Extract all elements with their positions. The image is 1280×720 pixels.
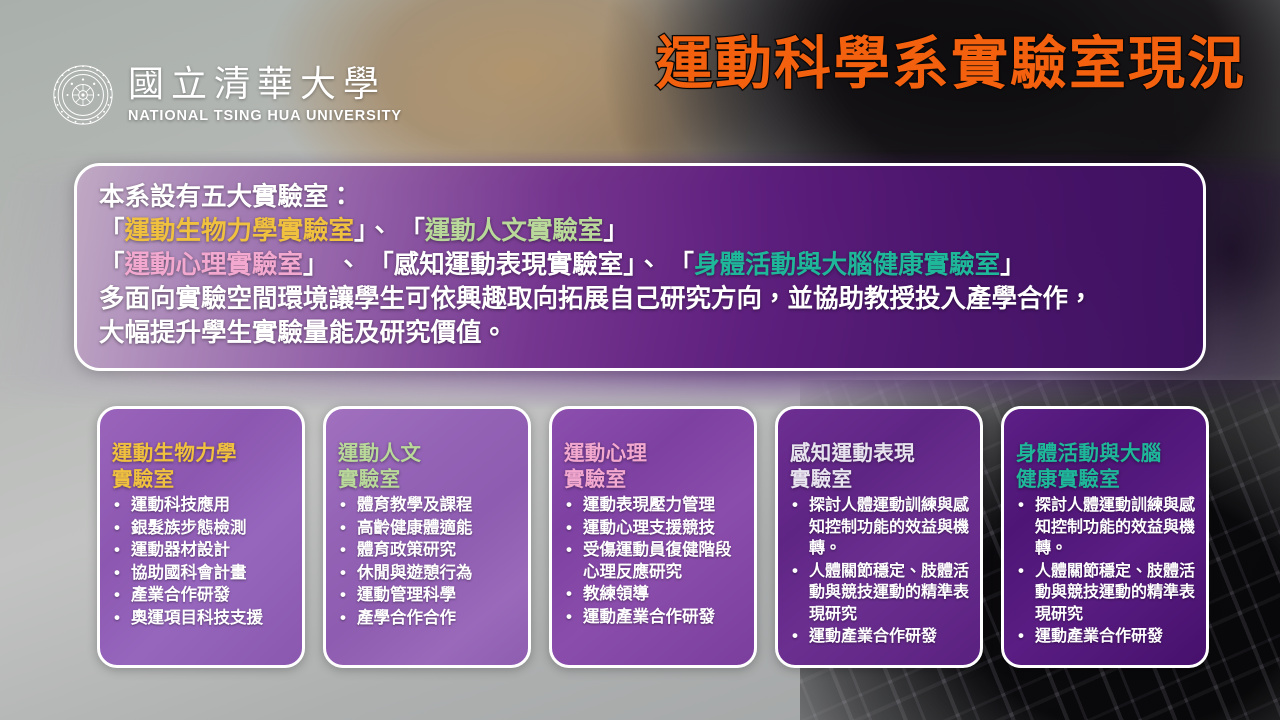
lab-card-item: 高齡健康體適能: [338, 518, 519, 540]
lab-card-item: 教練領導: [564, 584, 745, 606]
lab-card-item: 體育教學及課程: [338, 495, 519, 517]
lab-card-title: 運動心理 實驗室: [564, 441, 745, 493]
intro-banner-segment: 運動心理實驗室: [125, 251, 304, 279]
lab-card-item-list: 運動表現壓力管理運動心理支援競技受傷運動員復健階段心理反應研究教練領導運動產業合…: [564, 495, 745, 628]
lab-card-item: 運動表現壓力管理: [564, 495, 745, 517]
university-logo: 國立清華大學 NATIONAL TSING HUA UNIVERSITY: [52, 64, 402, 126]
ntu-seal-icon: [52, 64, 114, 126]
logo-english-name: NATIONAL TSING HUA UNIVERSITY: [128, 109, 402, 124]
lab-card-item: 運動器材設計: [112, 540, 293, 562]
intro-banner-segment: 運動生物力學實驗室: [125, 217, 355, 245]
lab-card-item: 休閒與遊憩行為: [338, 563, 519, 585]
intro-banner-line: 本系設有五大實驗室：: [99, 180, 1181, 214]
intro-banner-segment: 「: [99, 251, 125, 279]
lab-card-title: 身體活動與大腦 健康實驗室: [1016, 441, 1197, 493]
slide-canvas: 國立清華大學 NATIONAL TSING HUA UNIVERSITY 運動科…: [0, 0, 1280, 720]
lab-card-item: 銀髮族步態檢測: [112, 518, 293, 540]
intro-banner-segment: 多面向實驗空間環境讓學生可依興趣取向拓展自己研究方向，並協助教授投入產學合作，: [99, 285, 1094, 313]
lab-card-item-list: 運動科技應用銀髮族步態檢測運動器材設計協助國科會計畫產業合作研發奧運項目科技支援: [112, 495, 293, 629]
intro-banner-segment: 感知運動表現實驗室: [394, 251, 624, 279]
page-title: 運動科學系實驗室現況: [656, 34, 1246, 96]
lab-card-item: 運動科技應用: [112, 495, 293, 517]
intro-banner: 本系設有五大實驗室：「運動生物力學實驗室」、 「運動人文實驗室」「運動心理實驗室…: [74, 163, 1206, 371]
intro-banner-segment: 」: [1000, 251, 1026, 279]
lab-card-item: 探討人體運動訓練與感知控制功能的效益與機轉。: [790, 495, 971, 560]
lab-card-item: 協助國科會計畫: [112, 563, 293, 585]
lab-card-item: 運動產業合作研發: [790, 626, 971, 648]
intro-banner-segment: 」、 「: [623, 251, 694, 279]
intro-banner-segment: 本系設有五大實驗室：: [99, 183, 354, 211]
lab-card-title: 感知運動表現 實驗室: [790, 441, 971, 493]
intro-banner-segment: 身體活動與大腦健康實驗室: [694, 251, 1000, 279]
intro-banner-segment: 」 、 「: [303, 251, 394, 279]
lab-card-item: 人體關節穩定、肢體活動與競技運動的精準表現研究: [790, 561, 971, 626]
lab-card-item: 產學合作合作: [338, 608, 519, 630]
lab-card-title: 運動生物力學 實驗室: [112, 441, 293, 493]
lab-card-item: 產業合作研發: [112, 585, 293, 607]
lab-card[interactable]: 運動人文 實驗室體育教學及課程高齡健康體適能體育政策研究休閒與遊憩行為運動管理科…: [323, 406, 531, 668]
intro-banner-line: 「運動生物力學實驗室」、 「運動人文實驗室」: [99, 214, 1181, 248]
intro-banner-segment: 大幅提升學生實驗量能及研究價值。: [99, 319, 507, 347]
intro-banner-line: 大幅提升學生實驗量能及研究價值。: [99, 316, 1181, 350]
intro-banner-line: 多面向實驗空間環境讓學生可依興趣取向拓展自己研究方向，並協助教授投入產學合作，: [99, 282, 1181, 316]
lab-card[interactable]: 身體活動與大腦 健康實驗室探討人體運動訓練與感知控制功能的效益與機轉。人體關節穩…: [1001, 406, 1209, 668]
lab-card-item: 探討人體運動訓練與感知控制功能的效益與機轉。: [1016, 495, 1197, 560]
lab-card-item: 運動管理科學: [338, 585, 519, 607]
intro-banner-segment: 」、 「: [354, 217, 425, 245]
lab-card-item: 體育政策研究: [338, 540, 519, 562]
lab-card[interactable]: 感知運動表現 實驗室探討人體運動訓練與感知控制功能的效益與機轉。人體關節穩定、肢…: [775, 406, 983, 668]
lab-card[interactable]: 運動心理 實驗室運動表現壓力管理運動心理支援競技受傷運動員復健階段心理反應研究教…: [549, 406, 757, 668]
lab-card-list: 運動生物力學 實驗室運動科技應用銀髮族步態檢測運動器材設計協助國科會計畫產業合作…: [0, 406, 1280, 668]
lab-card-item: 人體關節穩定、肢體活動與競技運動的精準表現研究: [1016, 561, 1197, 626]
lab-card-item: 奧運項目科技支援: [112, 608, 293, 630]
lab-card-item: 運動心理支援競技: [564, 518, 745, 540]
intro-banner-segment: 「: [99, 217, 125, 245]
intro-banner-text: 本系設有五大實驗室：「運動生物力學實驗室」、 「運動人文實驗室」「運動心理實驗室…: [99, 180, 1181, 350]
lab-card-item-list: 探討人體運動訓練與感知控制功能的效益與機轉。人體關節穩定、肢體活動與競技運動的精…: [1016, 495, 1197, 648]
intro-banner-segment: 」: [603, 217, 629, 245]
lab-card-item-list: 探討人體運動訓練與感知控制功能的效益與機轉。人體關節穩定、肢體活動與競技運動的精…: [790, 495, 971, 648]
intro-banner-line: 「運動心理實驗室」 、 「感知運動表現實驗室」、 「身體活動與大腦健康實驗室」: [99, 248, 1181, 282]
lab-card[interactable]: 運動生物力學 實驗室運動科技應用銀髮族步態檢測運動器材設計協助國科會計畫產業合作…: [97, 406, 305, 668]
lab-card-title: 運動人文 實驗室: [338, 441, 519, 493]
logo-chinese-name: 國立清華大學: [128, 66, 402, 102]
lab-card-item: 受傷運動員復健階段心理反應研究: [564, 540, 745, 583]
intro-banner-segment: 運動人文實驗室: [425, 217, 604, 245]
lab-card-item-list: 體育教學及課程高齡健康體適能體育政策研究休閒與遊憩行為運動管理科學產學合作合作: [338, 495, 519, 629]
lab-card-item: 運動產業合作研發: [564, 607, 745, 629]
lab-card-item: 運動產業合作研發: [1016, 626, 1197, 648]
